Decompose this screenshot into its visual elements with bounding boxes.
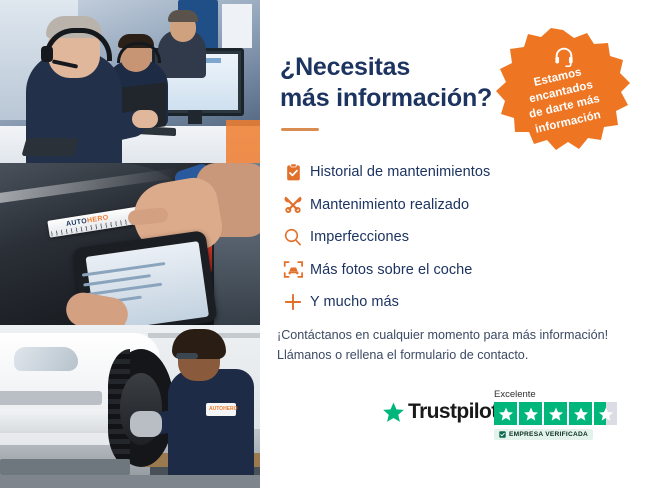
feature-label: Y mucho más	[310, 294, 399, 310]
uniform-logo-patch: AUTOHERO	[206, 403, 236, 416]
workshop-floor	[0, 475, 260, 488]
magnifier-icon	[276, 227, 310, 247]
trustpilot-logo: Trustpilot	[382, 400, 498, 424]
title-underline	[281, 128, 319, 131]
trustpilot-widget[interactable]: Trustpilot Excelente EMPRESA VERIFICADA	[382, 392, 650, 448]
feature-label: Más fotos sobre el coche	[310, 262, 472, 278]
page-title-line-2: más información?	[280, 83, 510, 114]
contact-line-1: ¡Contáctanos en cualquier momento para m…	[277, 325, 637, 345]
page-title: ¿Necesitas más información?	[280, 52, 510, 113]
agent-hand	[132, 110, 158, 128]
headset-earcup	[41, 46, 53, 62]
check-square-icon	[499, 431, 506, 438]
feature-label: Historial de mantenimientos	[310, 164, 490, 180]
feature-label: Mantenimiento realizado	[310, 197, 469, 213]
plus-icon	[276, 292, 310, 312]
verified-company-badge: EMPRESA VERIFICADA	[494, 429, 593, 440]
car-inspection-ruler-tablet-photo: AUTOHERO	[0, 163, 260, 325]
car-photo-frame-icon	[276, 259, 310, 280]
trustpilot-stars	[494, 402, 617, 425]
support-badge: Estamos encantados de darte más informac…	[494, 26, 632, 158]
trustpilot-star-icon	[382, 401, 405, 424]
contact-line-2: Llámanos o rellena el formulario de cont…	[277, 345, 637, 365]
star-1	[494, 402, 517, 425]
wall-notice	[222, 4, 252, 48]
page-title-line-1: ¿Necesitas	[280, 52, 510, 83]
content-panel: ¿Necesitas más información? Estamos enca…	[262, 0, 650, 488]
car-bumper	[0, 409, 124, 433]
star-2	[519, 402, 542, 425]
verified-company-label: EMPRESA VERIFICADA	[509, 431, 588, 438]
promo-panel: AUTOHERO	[0, 0, 650, 488]
orange-equipment	[226, 120, 260, 163]
star-4	[569, 402, 592, 425]
desk-tablet	[21, 138, 78, 156]
monitor-stand	[188, 110, 202, 124]
mechanic-glove	[130, 411, 162, 437]
headset-icon	[553, 45, 575, 67]
trustpilot-rating-label: Excelente	[494, 389, 536, 400]
safety-glasses	[176, 353, 198, 359]
photo-column: AUTOHERO	[0, 0, 260, 488]
feature-item-more[interactable]: Y mucho más	[276, 286, 626, 319]
feature-item-maintenance-history[interactable]: Historial de mantenimientos	[276, 156, 626, 189]
car-grille	[0, 391, 102, 405]
trustpilot-wordmark: Trustpilot	[408, 400, 498, 424]
contact-text: ¡Contáctanos en cualquier momento para m…	[277, 325, 637, 366]
car-lift-arm	[0, 459, 130, 475]
star-5-half	[594, 402, 617, 425]
feature-list: Historial de mantenimientos Mantenimient…	[276, 156, 626, 319]
clipboard-check-icon	[276, 163, 310, 182]
feature-label: Imperfecciones	[310, 229, 409, 245]
tools-icon	[276, 195, 310, 215]
car-headlight	[14, 347, 78, 371]
star-3	[544, 402, 567, 425]
call-center-agents-photo	[0, 0, 260, 163]
agent-background-hair	[168, 10, 198, 22]
uniform-logo-text: AUTOHERO	[209, 406, 238, 412]
feature-item-imperfections[interactable]: Imperfecciones	[276, 221, 626, 254]
mechanic-wheel-workshop-photo: AUTOHERO	[0, 325, 260, 488]
feature-item-more-photos[interactable]: Más fotos sobre el coche	[276, 254, 626, 287]
feature-item-maintenance-done[interactable]: Mantenimiento realizado	[276, 189, 626, 222]
